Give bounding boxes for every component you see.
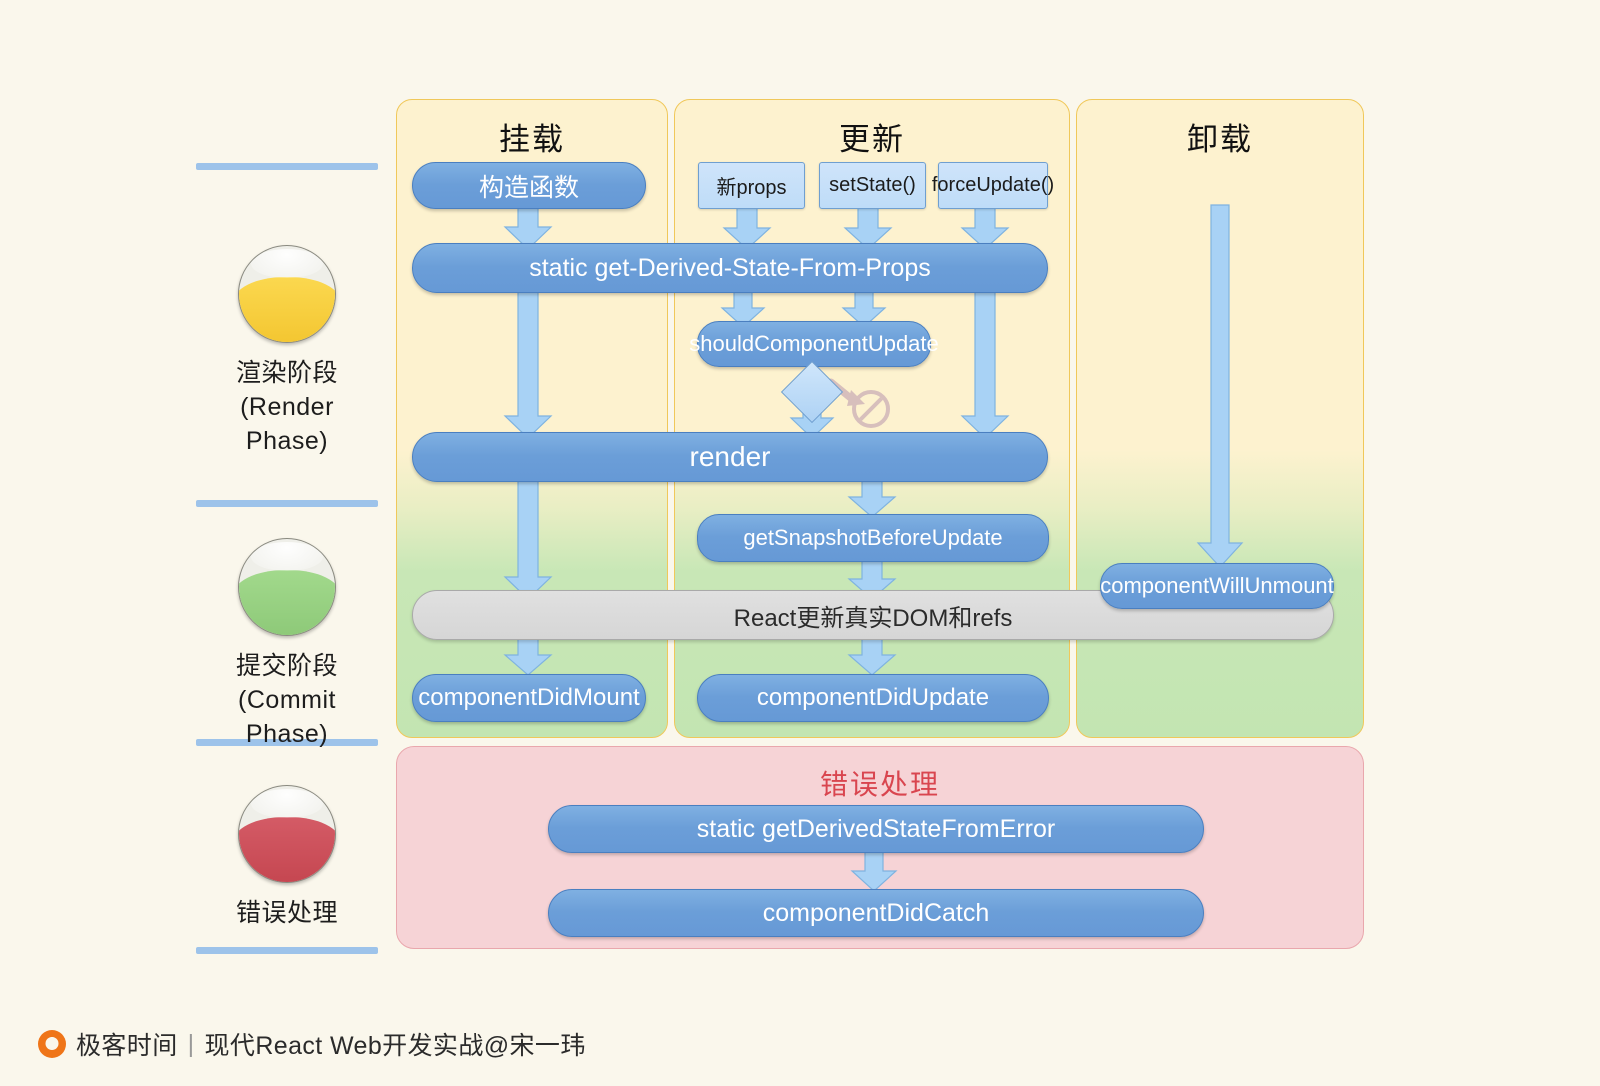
arrow-dom-to-cdu	[849, 637, 899, 677]
footer-brand: 极客时间	[76, 1026, 178, 1062]
footer-divider: |	[188, 1030, 195, 1059]
node-component-did-update[interactable]: componentDidUpdate	[697, 674, 1049, 722]
lifecycle-diagram: 渲染阶段 (Render Phase) 提交阶段 (Commit Phase) …	[0, 0, 1600, 1086]
error-phase-sphere	[238, 785, 336, 883]
arrow-gdsfp-to-render-mount	[505, 288, 555, 440]
node-get-snapshot-before-update[interactable]: getSnapshotBeforeUpdate	[697, 514, 1049, 562]
node-component-did-mount[interactable]: componentDidMount	[412, 674, 646, 722]
node-component-will-unmount[interactable]: componentWillUnmount	[1100, 563, 1334, 609]
commit-phase-sphere	[238, 538, 336, 636]
phase-render-label: 渲染阶段 (Render Phase)	[196, 357, 378, 458]
error-section-title: 错误处理	[397, 763, 1363, 803]
arrow-dom-to-cdm	[505, 637, 555, 677]
phase-error: 错误处理	[196, 785, 378, 931]
arrow-render-to-gsbu	[849, 479, 899, 519]
column-mount-title: 挂载	[397, 114, 667, 159]
arrow-gdsfp-bypass-to-render	[962, 288, 1012, 440]
arrow-gdsfe-to-cdc	[852, 849, 900, 893]
rail-divider-top	[196, 163, 378, 170]
rail-divider-bottom	[196, 947, 378, 954]
phase-render: 渲染阶段 (Render Phase)	[196, 245, 378, 458]
column-update-title: 更新	[675, 114, 1069, 159]
node-get-derived-state-from-error[interactable]: static getDerivedStateFromError	[548, 805, 1204, 853]
node-constructor[interactable]: 构造函数	[412, 162, 646, 209]
node-get-derived-state-from-props[interactable]: static get-Derived-State-From-Props	[412, 243, 1048, 293]
render-phase-sphere	[238, 245, 336, 343]
arrow-render-to-dom-mount	[505, 479, 555, 601]
no-entry-icon	[852, 390, 890, 428]
column-unmount-title: 卸载	[1077, 114, 1363, 159]
phase-error-label: 错误处理	[196, 897, 378, 931]
node-force-update[interactable]: forceUpdate()	[938, 162, 1048, 209]
phase-commit-label: 提交阶段 (Commit Phase)	[196, 650, 378, 751]
node-component-did-catch[interactable]: componentDidCatch	[548, 889, 1204, 937]
phase-commit: 提交阶段 (Commit Phase)	[196, 538, 378, 751]
node-render[interactable]: render	[412, 432, 1048, 482]
geekbang-logo-icon	[38, 1030, 66, 1058]
footer-course: 现代React Web开发实战@宋一玮	[205, 1026, 586, 1062]
node-new-props[interactable]: 新props	[698, 162, 805, 209]
rail-divider-mid	[196, 500, 378, 507]
node-set-state[interactable]: setState()	[819, 162, 926, 209]
node-should-component-update[interactable]: shouldComponentUpdate	[697, 321, 931, 367]
footer: 极客时间 | 现代React Web开发实战@宋一玮	[38, 1026, 586, 1062]
arrow-unmount-to-cwu	[1196, 205, 1246, 569]
